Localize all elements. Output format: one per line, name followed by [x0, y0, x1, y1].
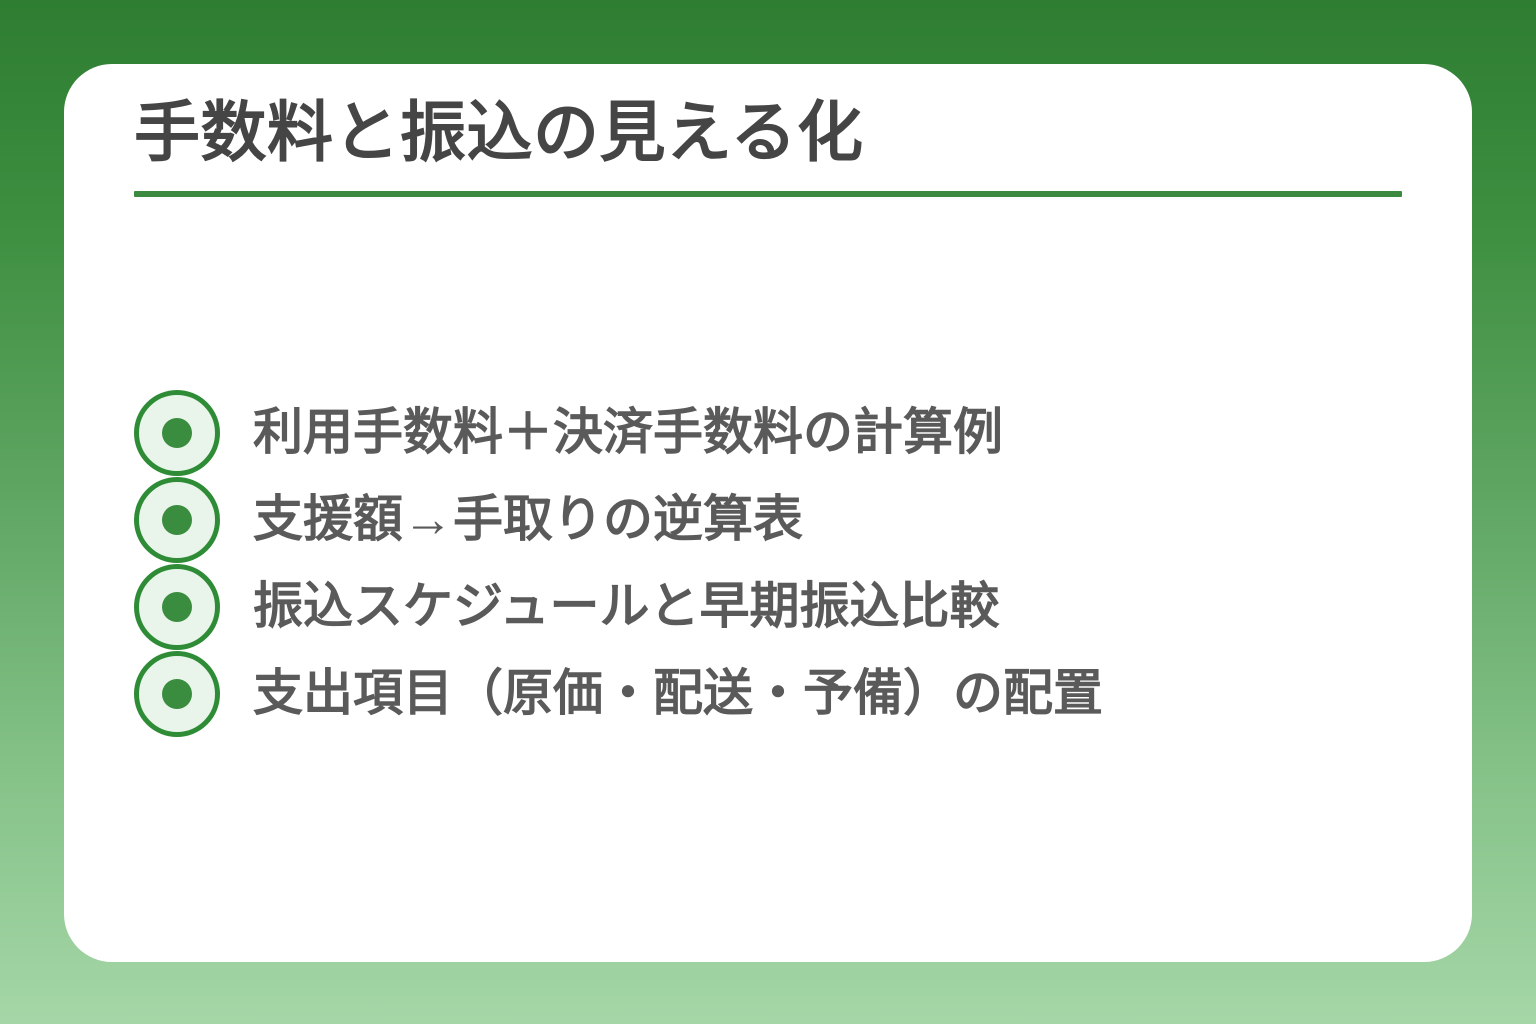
- list-item: 支出項目（原価・配送・予備）の配置: [134, 650, 1424, 737]
- bullet-dot-icon: [134, 477, 220, 563]
- bullet-dot-icon: [134, 564, 220, 650]
- list-item: 支援額→手取りの逆算表: [134, 476, 1424, 563]
- list-item: 利用手数料＋決済手数料の計算例: [134, 389, 1424, 476]
- slide-card: 手数料と振込の見える化 利用手数料＋決済手数料の計算例 支援額→手取りの逆算表: [64, 64, 1472, 962]
- bullet-dot-icon: [134, 390, 220, 476]
- title-underline-rule: [134, 191, 1402, 197]
- bullet-list: 利用手数料＋決済手数料の計算例 支援額→手取りの逆算表 振込スケジュールと早期振…: [134, 389, 1424, 737]
- bullet-dot-inner-icon: [162, 505, 192, 535]
- slide-root: 手数料と振込の見える化 利用手数料＋決済手数料の計算例 支援額→手取りの逆算表: [0, 0, 1536, 1024]
- bullet-dot-inner-icon: [162, 679, 192, 709]
- page-title: 手数料と振込の見える化: [134, 98, 1402, 167]
- list-item-label: 支出項目（原価・配送・予備）の配置: [253, 667, 1103, 720]
- list-item: 振込スケジュールと早期振込比較: [134, 563, 1424, 650]
- list-item-label: 振込スケジュールと早期振込比較: [253, 580, 1000, 633]
- bullet-dot-icon: [134, 651, 220, 737]
- title-block: 手数料と振込の見える化: [134, 98, 1402, 197]
- list-item-label: 支援額→手取りの逆算表: [253, 493, 803, 546]
- bullet-dot-inner-icon: [162, 592, 192, 622]
- bullet-dot-inner-icon: [162, 418, 192, 448]
- list-item-label: 利用手数料＋決済手数料の計算例: [253, 406, 1003, 459]
